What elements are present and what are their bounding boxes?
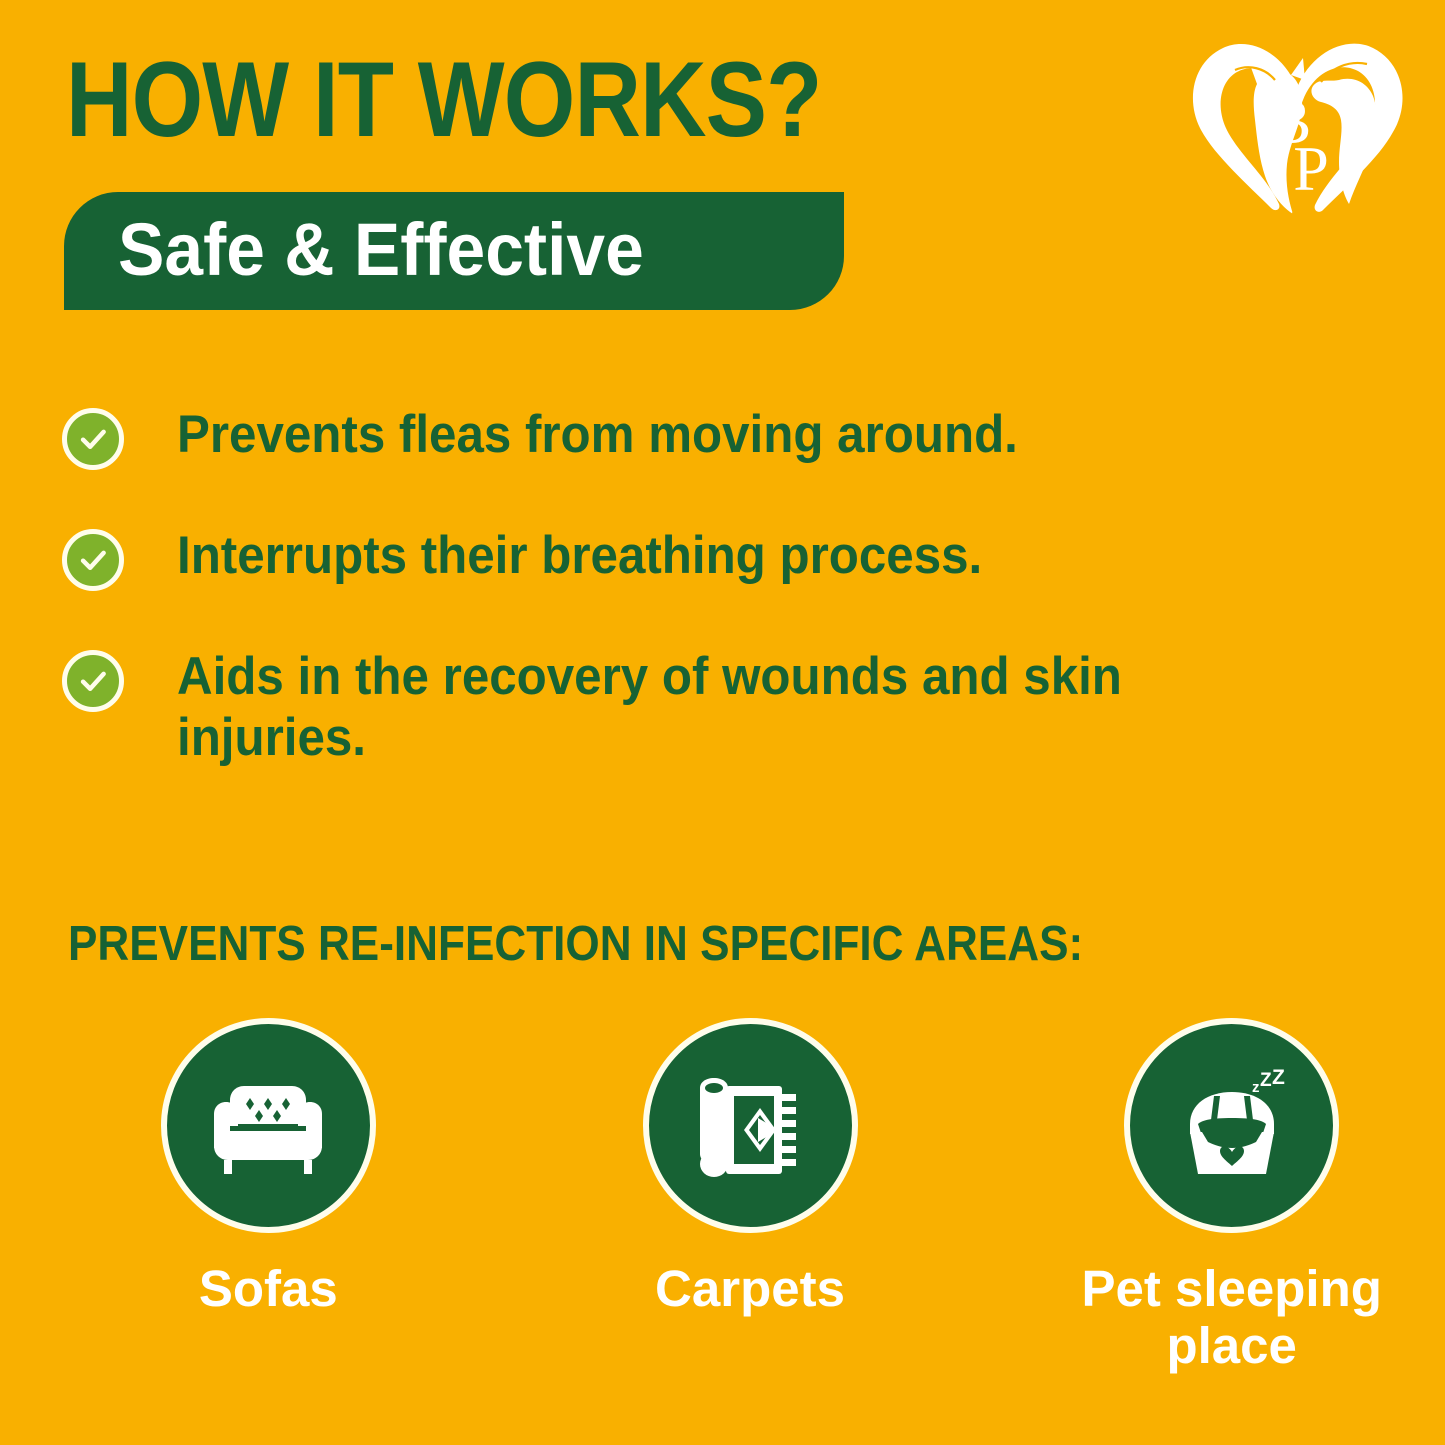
area-item-sofas: Sofas [55,1018,482,1374]
list-item: Prevents fleas from moving around. [62,405,1222,470]
list-item-label: Interrupts their breathing process. [177,526,982,587]
areas-heading: PREVENTS RE-INFECTION IN SPECIFIC AREAS: [68,916,1083,972]
area-label: Sofas [199,1260,338,1317]
area-item-pet-sleeping-place: z Z Z Pet sleeping place [1018,1018,1445,1374]
area-item-carpets: Carpets [537,1018,964,1374]
list-item: Interrupts their breathing process. [62,526,1222,591]
check-circle-icon [62,529,124,591]
check-circle-icon [62,408,124,470]
areas-grid: Sofas [0,1018,1445,1374]
area-label: Pet sleeping place [1037,1260,1427,1374]
pet-heart-logo-icon: B P [1171,18,1423,270]
banner-label: Safe & Effective [118,207,644,292]
list-item-label: Aids in the recovery of wounds and skin … [177,647,1149,769]
benefits-list: Prevents fleas from moving around. Inter… [62,405,1222,769]
sofa-icon [161,1018,376,1233]
list-item: Aids in the recovery of wounds and skin … [62,647,1222,769]
list-item-label: Prevents fleas from moving around. [177,405,1018,466]
page-title: HOW IT WORKS? [66,46,822,153]
svg-text:Z: Z [1272,1066,1285,1089]
svg-text:Z: Z [1260,1070,1272,1091]
svg-text:z: z [1252,1079,1260,1096]
svg-text:P: P [1293,133,1329,204]
safe-effective-banner: Safe & Effective [64,192,844,310]
pet-bed-icon: z Z Z [1124,1018,1339,1233]
carpet-icon [643,1018,858,1233]
area-label: Carpets [655,1260,845,1317]
check-circle-icon [62,650,124,712]
